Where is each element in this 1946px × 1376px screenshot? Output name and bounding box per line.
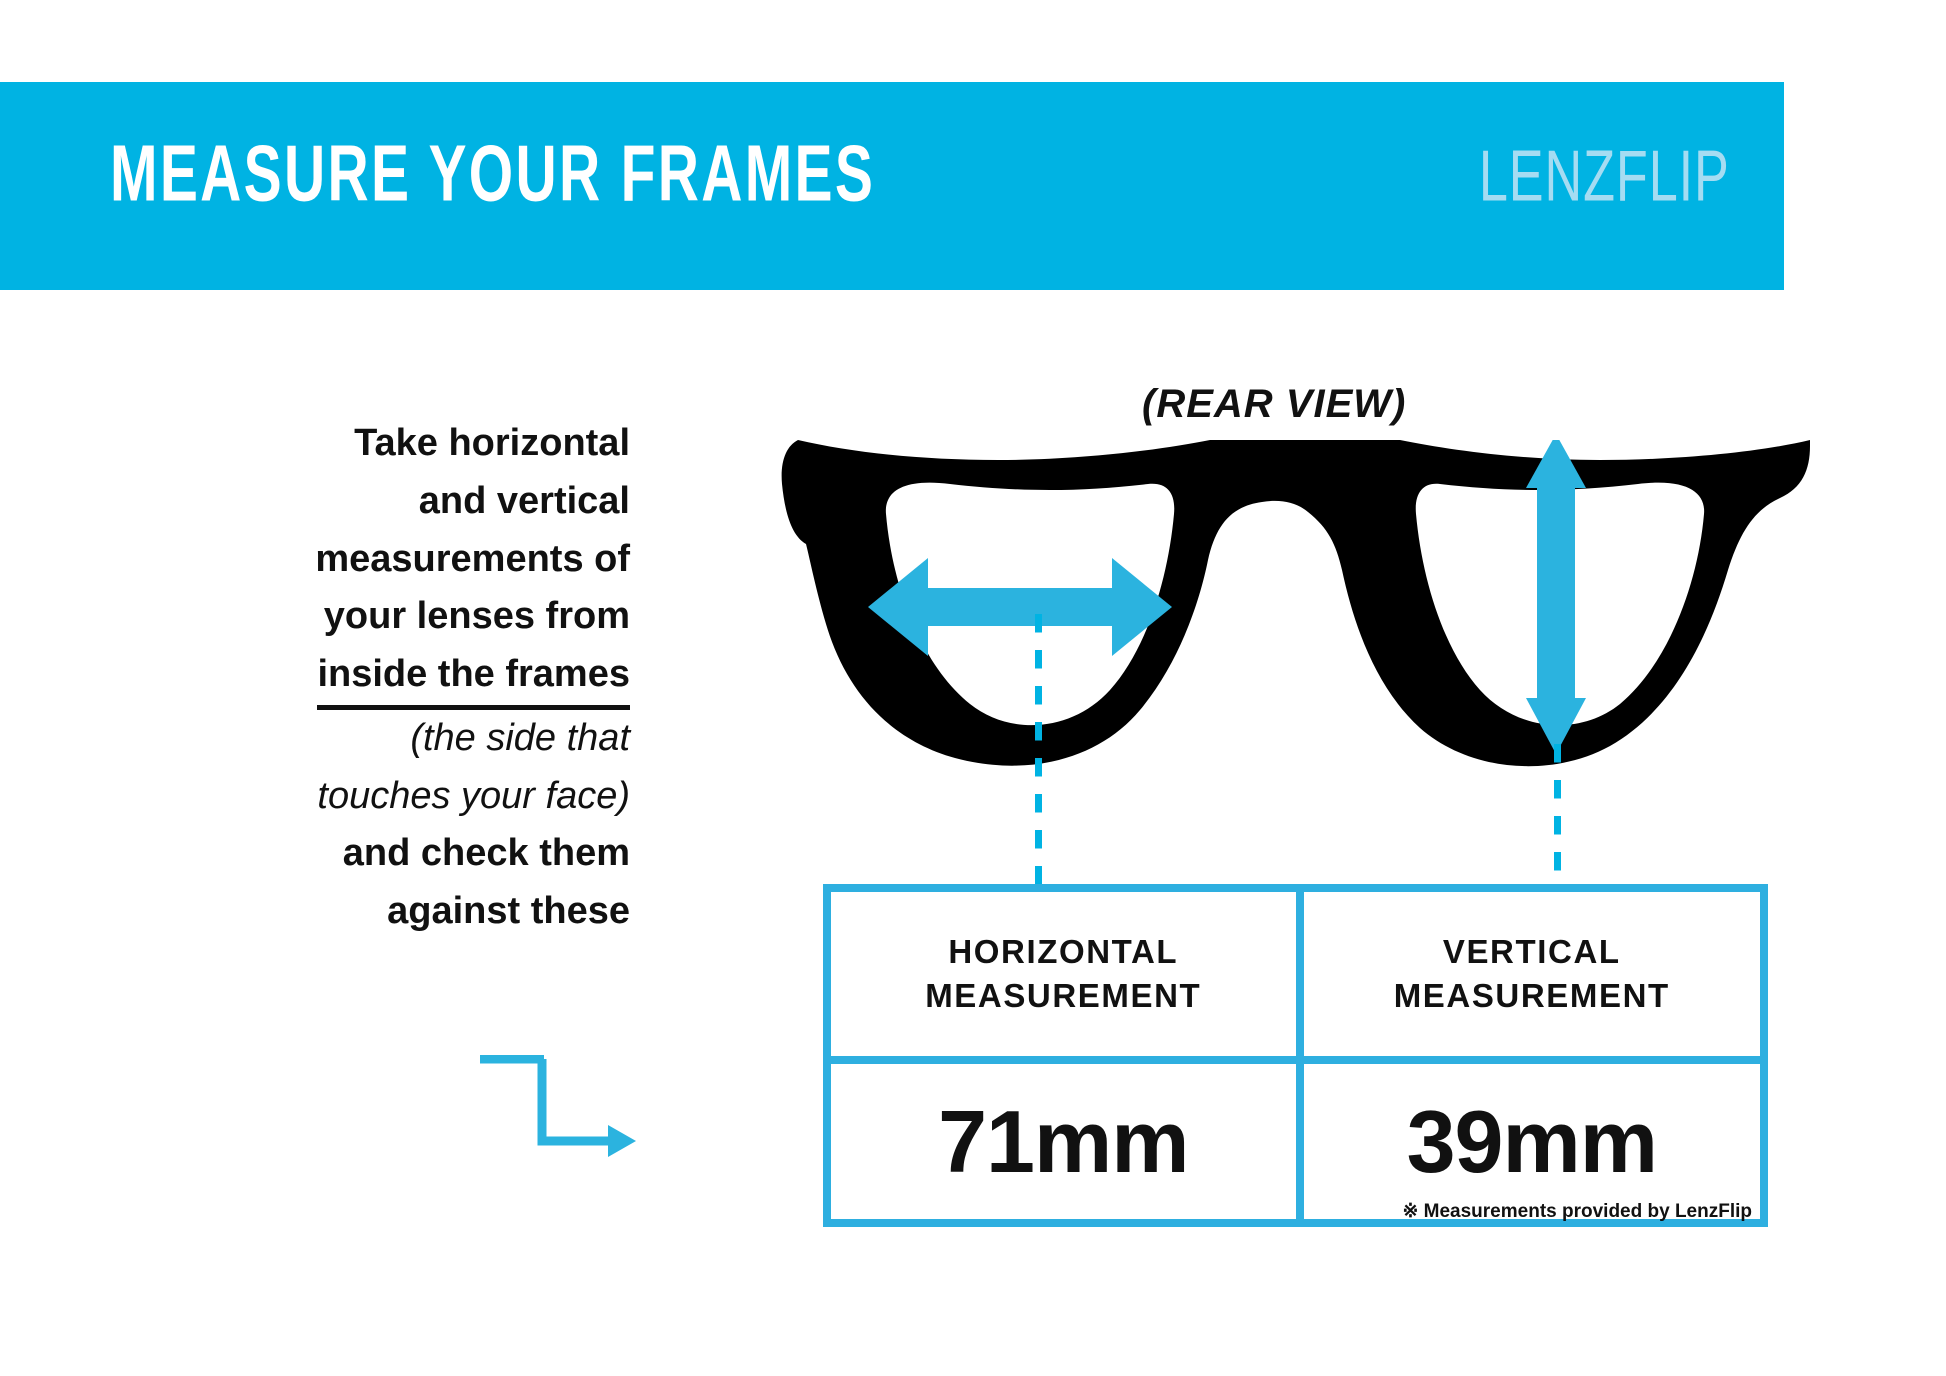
instruction-line-9: against these <box>150 883 630 941</box>
instruction-line-6-italic: (the side that <box>150 710 630 768</box>
horizontal-measurement-arrow <box>868 558 1172 656</box>
dashed-connector-vertical <box>1554 744 1561 886</box>
table-header-cell-vertical: VERTICAL MEASUREMENT <box>1296 892 1761 1056</box>
rear-view-label: (REAR VIEW) <box>1142 382 1406 427</box>
header-horizontal-line2: MEASUREMENT <box>925 974 1201 1018</box>
instruction-line-3: measurements of <box>150 531 630 589</box>
page-title: MEASURE YOUR FRAMES <box>110 129 875 220</box>
table-value-row: 71mm 39mm ※ Measurements provided by Len… <box>831 1056 1760 1227</box>
vertical-measurement-value: 39mm <box>1407 1098 1657 1186</box>
instruction-line-5-emphasis: inside the frames <box>150 646 630 710</box>
table-value-cell-horizontal: 71mm <box>831 1064 1296 1227</box>
table-header-row: HORIZONTAL MEASUREMENT VERTICAL MEASUREM… <box>831 892 1760 1056</box>
table-header-cell-horizontal: HORIZONTAL MEASUREMENT <box>831 892 1296 1056</box>
dashed-connector-horizontal <box>1035 614 1042 886</box>
header-vertical-line2: MEASUREMENT <box>1394 974 1670 1018</box>
measurements-footnote: ※ Measurements provided by LenzFlip <box>1402 1200 1752 1223</box>
header-vertical-line1: VERTICAL <box>1394 930 1670 974</box>
table-value-cell-vertical: 39mm ※ Measurements provided by LenzFlip <box>1296 1064 1761 1227</box>
measurements-table: HORIZONTAL MEASUREMENT VERTICAL MEASUREM… <box>823 884 1768 1227</box>
inside-the-frames-underlined: inside the frames <box>317 646 630 710</box>
elbow-pointer-arrow <box>480 1055 640 1175</box>
instruction-line-8: and check them <box>150 825 630 883</box>
instruction-line-4: your lenses from <box>150 588 630 646</box>
header-horizontal-line1: HORIZONTAL <box>925 930 1201 974</box>
instruction-line-7-italic: touches your face) <box>150 768 630 826</box>
instruction-text-block: Take horizontal and vertical measurement… <box>150 415 630 941</box>
elbow-arrow-icon <box>480 1055 640 1175</box>
instruction-line-1: Take horizontal <box>150 415 630 473</box>
vertical-measurement-arrow <box>1526 440 1586 754</box>
lenzflip-logo: LENZFLIP <box>1479 134 1730 218</box>
horizontal-measurement-value: 71mm <box>938 1098 1188 1186</box>
eyeglasses-diagram <box>780 440 1810 770</box>
instruction-line-2: and vertical <box>150 473 630 531</box>
header-band: MEASURE YOUR FRAMES LENZFLIP <box>0 82 1784 290</box>
